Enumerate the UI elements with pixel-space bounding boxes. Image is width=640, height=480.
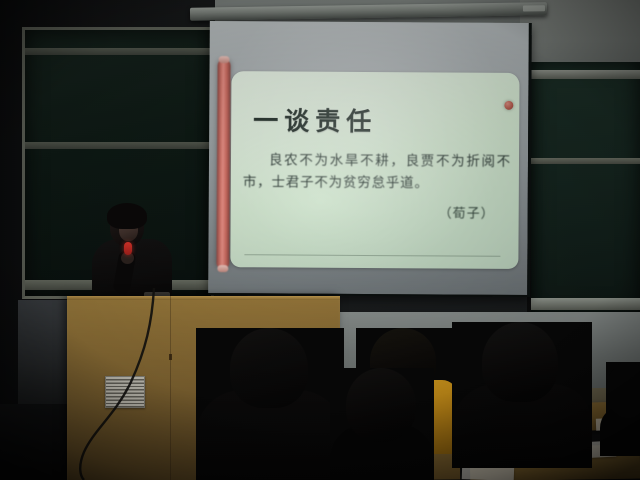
chalk-rail-bottom-right bbox=[531, 298, 640, 310]
slide-attribution: （荀子） bbox=[439, 202, 495, 221]
chalk-rail-middle-right bbox=[531, 158, 640, 164]
lectern-vent-left bbox=[105, 376, 145, 408]
lectern-fastener-left bbox=[169, 354, 172, 360]
slide-body-text: 良农不为水旱不耕，良贾不为折阅不市，士君子不为贫穷怠乎道。 bbox=[243, 149, 511, 195]
slide-bottom-rule bbox=[244, 254, 500, 257]
floor-strip bbox=[0, 404, 70, 480]
scroll-roller-cap-top bbox=[219, 56, 230, 63]
slide-title: 一谈责任 bbox=[253, 101, 377, 138]
audience-head bbox=[230, 328, 308, 408]
audience-head bbox=[482, 322, 558, 402]
audience-head bbox=[346, 368, 416, 442]
blackboard-right bbox=[527, 62, 640, 312]
audience-member-left-front bbox=[330, 368, 434, 480]
classroom-photo: 一谈责任 良农不为水旱不耕，良贾不为折阅不市，士君子不为贫穷怠乎道。 （荀子） bbox=[0, 0, 640, 480]
audience-member-far-right bbox=[606, 362, 640, 454]
lectern-top-edge bbox=[67, 296, 340, 300]
microphone-icon bbox=[124, 242, 132, 255]
presenter bbox=[86, 206, 178, 310]
audience-member-center bbox=[196, 328, 344, 480]
audience-member-right bbox=[452, 322, 592, 466]
scroll-roller-decoration bbox=[216, 59, 230, 269]
chalk-rail-top-right bbox=[531, 70, 640, 79]
chalk-rail-middle bbox=[25, 142, 211, 149]
lectern-panel-seam-left bbox=[170, 296, 171, 480]
slide-content-panel: 一谈责任 良农不为水旱不耕，良贾不为折阅不市，士君子不为贫穷怠乎道。 （荀子） bbox=[230, 71, 519, 269]
screen-case-endcap bbox=[523, 5, 545, 11]
projection-screen: 一谈责任 良农不为水旱不耕，良贾不为折阅不市，士君子不为贫穷怠乎道。 （荀子） bbox=[208, 21, 532, 297]
left-wall-panel bbox=[18, 300, 70, 406]
presenter-hair bbox=[107, 203, 147, 229]
scroll-knob-icon bbox=[504, 101, 513, 110]
chalk-rail-top bbox=[25, 48, 211, 55]
scroll-roller-cap-bottom bbox=[217, 265, 228, 272]
